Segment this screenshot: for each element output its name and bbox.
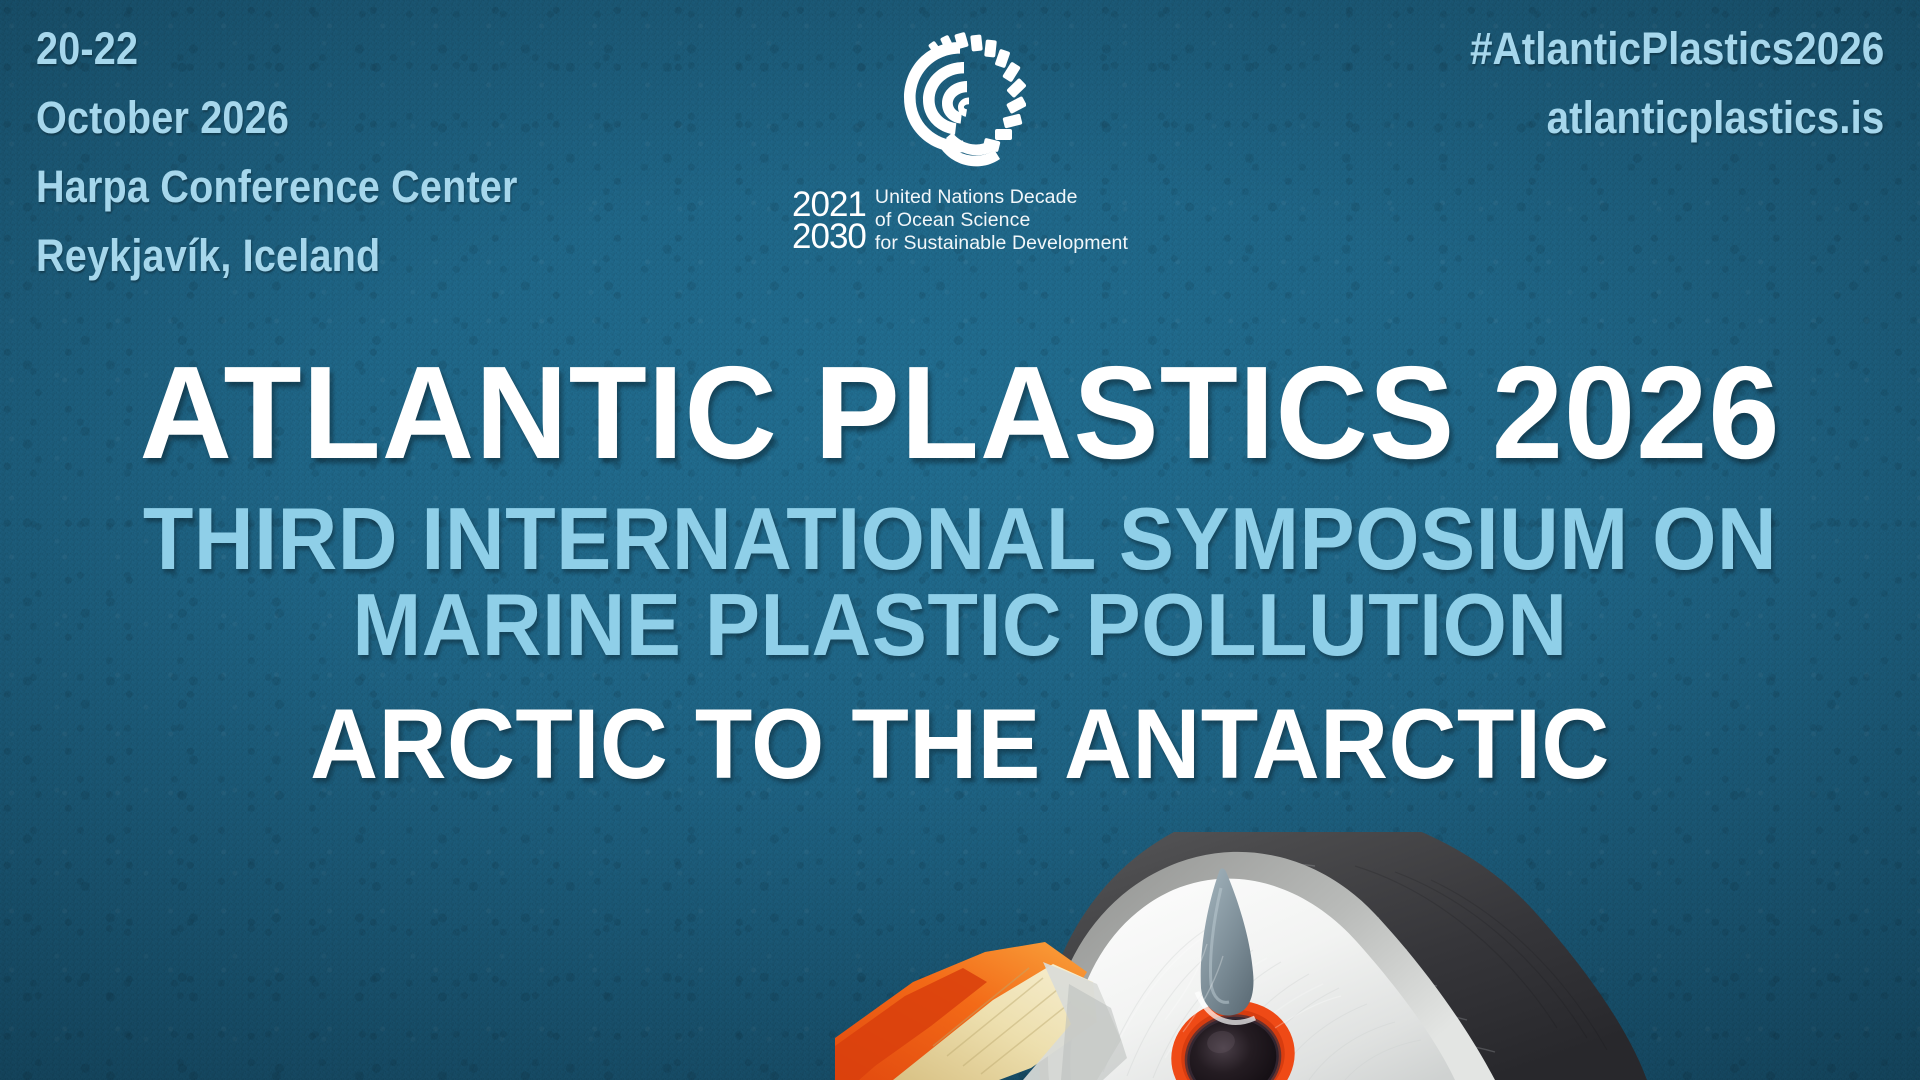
ocean-decade-year-end: 2030 <box>792 221 866 253</box>
conference-poster: 20-22 October 2026 Harpa Conference Cent… <box>0 0 1920 1080</box>
event-website-url[interactable]: atlanticplastics.is <box>1470 83 1884 152</box>
event-details-block: 20-22 October 2026 Harpa Conference Cent… <box>36 14 518 290</box>
poster-subtitle: THIRD INTERNATIONAL SYMPOSIUM ON MARINE … <box>58 496 1863 668</box>
ocean-decade-line-1: United Nations Decade <box>875 186 1128 209</box>
social-block: #AtlanticPlastics2026 atlanticplastics.i… <box>1470 14 1884 152</box>
event-venue: Harpa Conference Center <box>36 152 518 221</box>
poster-header: 20-22 October 2026 Harpa Conference Cent… <box>0 0 1920 290</box>
event-month-year: October 2026 <box>36 83 518 152</box>
un-ocean-decade-logo: 2021 2030 United Nations Decade of Ocean… <box>792 26 1128 255</box>
ocean-decade-line-2: of Ocean Science <box>875 209 1128 232</box>
ocean-decade-wordmark: United Nations Decade of Ocean Science f… <box>875 186 1128 255</box>
poster-theme-title: ARCTIC TO THE ANTARCTIC <box>48 694 1872 794</box>
poster-subtitle-line-2: MARINE PLASTIC POLLUTION <box>58 582 1863 668</box>
ocean-decade-year-start: 2021 <box>792 189 866 221</box>
event-hashtag[interactable]: #AtlanticPlastics2026 <box>1470 14 1884 83</box>
ocean-decade-years: 2021 2030 <box>792 189 866 253</box>
event-dates: 20-22 <box>36 14 518 83</box>
poster-main-title: ATLANTIC PLASTICS 2026 <box>29 352 1891 474</box>
ocean-decade-lockup: 2021 2030 United Nations Decade of Ocean… <box>792 186 1128 255</box>
ocean-decade-wave-icon <box>894 26 1026 176</box>
ocean-decade-line-3: for Sustainable Development <box>875 232 1128 255</box>
event-city-country: Reykjavík, Iceland <box>36 221 518 290</box>
poster-subtitle-line-1: THIRD INTERNATIONAL SYMPOSIUM ON <box>58 496 1863 582</box>
poster-titles: ATLANTIC PLASTICS 2026 THIRD INTERNATION… <box>0 352 1920 794</box>
